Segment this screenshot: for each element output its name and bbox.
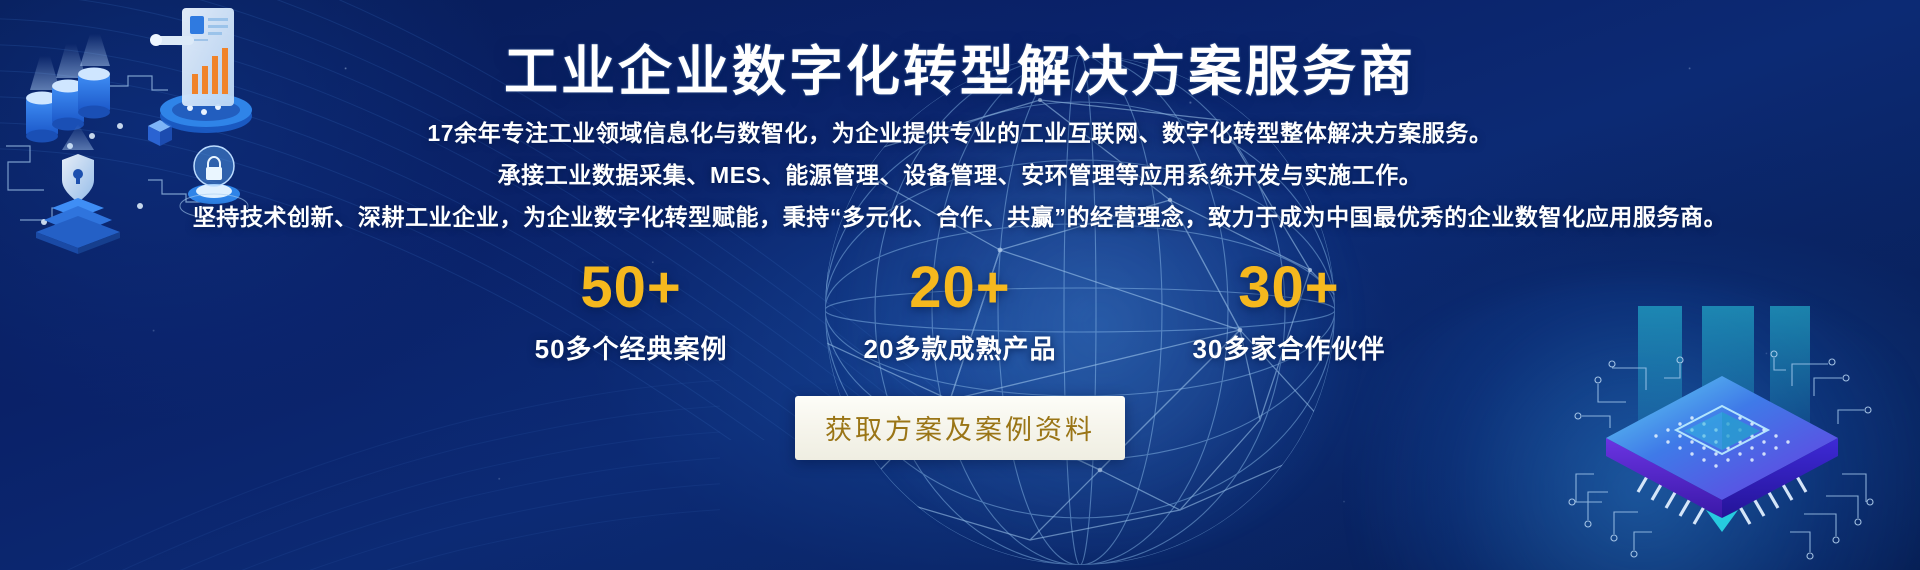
stat-label: 20多款成熟产品 (864, 329, 1057, 366)
subtitle-line-2: 承接工业数据采集、MES、能源管理、设备管理、安环管理等应用系统开发与实施工作。 (498, 162, 1423, 190)
subtitle-line-1: 17余年专注工业领域信息化与数智化，为企业提供专业的工业互联网、数字化转型整体解… (427, 120, 1492, 148)
stat-label: 50多个经典案例 (535, 329, 728, 366)
banner-content: 工业企业数字化转型解决方案服务商 17余年专注工业领域信息化与数智化，为企业提供… (0, 0, 1920, 570)
stat-label: 30多家合作伙伴 (1192, 329, 1385, 366)
stat-number: 20+ (909, 259, 1010, 317)
get-solution-materials-button[interactable]: 获取方案及案例资料 (795, 396, 1125, 460)
page-title: 工业企业数字化转型解决方案服务商 (504, 42, 1416, 102)
stat-item-cases: 50+ 50多个经典案例 (535, 259, 728, 366)
stat-number: 30+ (1238, 259, 1339, 317)
stat-number: 50+ (580, 259, 681, 317)
subtitle-group: 17余年专注工业领域信息化与数智化，为企业提供专业的工业互联网、数字化转型整体解… (193, 120, 1728, 231)
promo-banner: 工业企业数字化转型解决方案服务商 17余年专注工业领域信息化与数智化，为企业提供… (0, 0, 1920, 570)
stats-row: 50+ 50多个经典案例 20+ 20多款成熟产品 30+ 30多家合作伙伴 (535, 259, 1386, 366)
subtitle-line-3: 坚持技术创新、深耕工业企业，为企业数字化转型赋能，秉持“多元化、合作、共赢”的经… (193, 204, 1728, 232)
stat-item-partners: 30+ 30多家合作伙伴 (1192, 259, 1385, 366)
stat-item-products: 20+ 20多款成熟产品 (864, 259, 1057, 366)
